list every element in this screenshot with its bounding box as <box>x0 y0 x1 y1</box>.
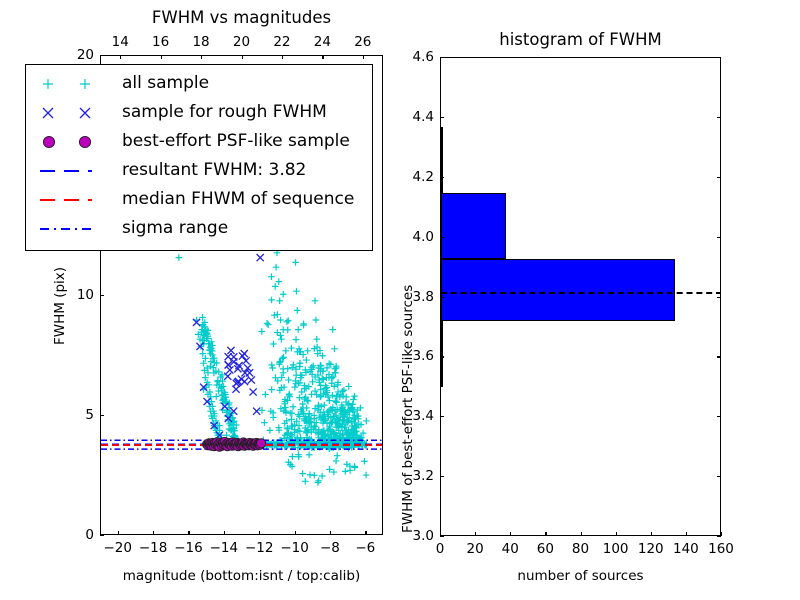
scatter-point-plus <box>274 311 281 318</box>
histogram-bar <box>441 127 443 193</box>
hist-y-tick-mark-right <box>717 297 721 298</box>
legend-item-label: sample for rough FWHM <box>122 104 327 121</box>
scatter-point-plus <box>313 336 320 343</box>
scatter-point-plus <box>303 405 310 412</box>
x-tick-label: −12 <box>245 540 274 556</box>
x-tick-mark <box>188 531 189 535</box>
hist-x-tick-label: 20 <box>467 541 484 557</box>
scatter-point-plus <box>341 387 348 394</box>
x-tick-label: −20 <box>103 540 132 556</box>
x-tick-mark-top <box>242 55 243 59</box>
y-tick-label: 0 <box>54 527 94 543</box>
x-tick-label: −16 <box>174 540 203 556</box>
x-tick-label-top: 18 <box>192 34 209 50</box>
histogram-bar <box>441 259 675 322</box>
hist-y-tick-mark <box>440 57 444 58</box>
scatter-point-plus <box>294 307 301 314</box>
legend-item-label: resultant FWHM: 3.82 <box>122 162 306 179</box>
x-tick-mark-top <box>161 55 162 59</box>
x-tick-mark <box>153 531 154 535</box>
hist-y-tick-mark <box>440 536 444 537</box>
x-tick-label-top: 22 <box>273 34 290 50</box>
left-plot-title: FWHM vs magnitudes <box>100 8 383 27</box>
hist-y-tick-mark-right <box>717 416 721 417</box>
hist-x-tick-mark <box>721 532 722 536</box>
scatter-point-cross <box>253 408 260 415</box>
histogram-bars-layer <box>441 58 720 535</box>
scatter-point-plus <box>315 478 322 485</box>
hist-y-tick-label: 3.6 <box>394 348 434 364</box>
scatter-point-plus <box>332 398 339 405</box>
hist-y-tick-mark <box>440 237 444 238</box>
legend-marker-cross-icon <box>30 98 122 127</box>
scatter-point-plus <box>272 283 279 290</box>
scatter-point-plus <box>319 473 326 480</box>
scatter-point-circle <box>43 136 54 147</box>
right-plot-title: histogram of FWHM <box>440 30 721 49</box>
legend-item-label: median FHWM of sequence <box>122 191 354 208</box>
x-tick-mark <box>330 531 331 535</box>
scatter-point-plus <box>270 341 277 348</box>
y-tick-label: 5 <box>54 407 94 423</box>
hist-y-tick-label: 4.2 <box>394 169 434 185</box>
scatter-point-plus <box>289 453 296 460</box>
y-tick-mark <box>100 535 104 536</box>
scatter-point-cross <box>43 108 53 118</box>
legend-item-label: best-effort PSF-like sample <box>122 133 350 150</box>
x-tick-label-top: 26 <box>354 34 371 50</box>
x-tick-label: −14 <box>210 540 239 556</box>
legend-item: resultant FWHM: 3.82 <box>30 156 372 185</box>
scatter-point-plus <box>363 472 370 479</box>
hist-x-tick-mark <box>475 532 476 536</box>
scatter-point-plus <box>262 391 269 398</box>
legend-item: best-effort PSF-like sample <box>30 127 372 156</box>
scatter-point-plus <box>292 384 299 391</box>
scatter-point-plus <box>261 419 268 426</box>
y-tick-label: 20 <box>54 47 94 63</box>
scatter-point-plus <box>347 467 354 474</box>
scatter-point-plus <box>303 357 310 364</box>
hist-y-tick-mark-right <box>717 476 721 477</box>
hist-y-tick-label: 4.0 <box>394 229 434 245</box>
legend-marker-plus-icon <box>30 69 122 98</box>
hist-y-tick-mark-right <box>717 117 721 118</box>
scatter-point-cross <box>257 254 264 261</box>
legend-item-label: all sample <box>122 75 209 92</box>
scatter-point-plus <box>304 348 311 355</box>
hist-x-tick-mark <box>616 532 617 536</box>
legend-marker-dashed-icon <box>30 185 122 214</box>
hist-y-tick-label: 4.4 <box>394 109 434 125</box>
scatter-point-plus <box>264 320 271 327</box>
scatter-point-cross <box>241 378 248 385</box>
histogram-bar <box>441 321 443 387</box>
hist-y-tick-label: 4.6 <box>394 49 434 65</box>
x-tick-label-top: 16 <box>152 34 169 50</box>
hist-x-tick-mark <box>510 532 511 536</box>
left-y-axis-label: FWHM (pix) <box>52 267 68 345</box>
histogram-plot-axes <box>440 57 721 536</box>
scatter-point-plus <box>295 326 302 333</box>
x-tick-mark <box>118 531 119 535</box>
scatter-point-plus <box>282 347 289 354</box>
hist-y-tick-mark <box>440 416 444 417</box>
x-tick-label: −8 <box>320 540 340 556</box>
x-tick-mark <box>365 531 366 535</box>
scatter-point-cross <box>248 376 255 383</box>
scatter-point-plus <box>43 79 53 89</box>
y-tick-label: 10 <box>54 287 94 303</box>
x-tick-mark-top <box>363 55 364 59</box>
scatter-point-plus <box>334 452 341 459</box>
hist-x-tick-label: 100 <box>603 541 629 557</box>
hist-y-tick-mark <box>440 356 444 357</box>
hist-y-tick-label: 3.4 <box>394 408 434 424</box>
legend-item: median FHWM of sequence <box>30 185 372 214</box>
scatter-point-plus <box>317 382 324 389</box>
hist-y-tick-mark <box>440 297 444 298</box>
legend-item-label: sigma range <box>122 220 228 237</box>
scatter-point-plus <box>278 374 285 381</box>
scatter-point-plus <box>273 264 280 271</box>
scatter-point-plus <box>312 388 319 395</box>
resultant-fwhm-line <box>441 292 720 294</box>
scatter-point-circle <box>79 136 90 147</box>
x-tick-label-top: 20 <box>233 34 250 50</box>
scatter-point-plus <box>271 312 278 319</box>
scatter-point-plus <box>321 402 328 409</box>
x-tick-label-top: 14 <box>112 34 129 50</box>
scatter-point-plus <box>351 464 358 471</box>
scatter-point-plus <box>285 377 292 384</box>
hist-y-tick-label: 3.2 <box>394 468 434 484</box>
x-tick-label: −6 <box>355 540 375 556</box>
hist-x-tick-label: 120 <box>638 541 664 557</box>
hist-y-tick-label: 3.8 <box>394 289 434 305</box>
hist-y-tick-mark-right <box>717 536 721 537</box>
scatter-point-plus <box>331 346 338 353</box>
legend-item: all sample <box>30 69 372 98</box>
hist-x-tick-label: 140 <box>673 541 699 557</box>
hist-y-tick-label: 3.0 <box>394 528 434 544</box>
hist-x-tick-label: 0 <box>436 541 445 557</box>
legend-marker-dashed-icon <box>30 156 122 185</box>
x-tick-mark-top <box>282 55 283 59</box>
scatter-point-plus <box>285 317 292 324</box>
hist-y-tick-mark <box>440 476 444 477</box>
scatter-point-plus <box>289 410 296 417</box>
scatter-point-plus <box>280 291 287 298</box>
x-tick-mark-top <box>201 55 202 59</box>
right-x-axis-label: number of sources <box>440 568 721 584</box>
scatter-point-plus <box>278 336 285 343</box>
y-tick-mark <box>100 55 104 56</box>
scatter-point-plus <box>280 366 287 373</box>
scatter-point-circle <box>256 439 265 448</box>
x-tick-mark <box>224 531 225 535</box>
x-tick-mark-top <box>322 55 323 59</box>
hist-x-tick-label: 80 <box>572 541 589 557</box>
legend-item: sigma range <box>30 214 372 243</box>
x-tick-label: −10 <box>280 540 309 556</box>
scatter-point-cross <box>241 350 248 357</box>
scatter-point-plus <box>303 428 310 435</box>
hist-y-tick-mark-right <box>717 237 721 238</box>
scatter-point-plus <box>315 479 322 486</box>
hist-x-tick-mark <box>581 532 582 536</box>
scatter-point-plus <box>350 396 357 403</box>
scatter-point-plus <box>265 321 272 328</box>
scatter-point-plus <box>363 418 370 425</box>
hist-x-tick-mark <box>651 532 652 536</box>
scatter-point-plus <box>258 328 265 335</box>
scatter-point-cross <box>242 357 249 364</box>
x-tick-mark-top <box>120 55 121 59</box>
hist-y-tick-mark <box>440 177 444 178</box>
hist-y-tick-mark-right <box>717 177 721 178</box>
scatter-point-plus <box>176 254 183 261</box>
scatter-point-plus <box>351 393 358 400</box>
hist-y-tick-mark-right <box>717 356 721 357</box>
scatter-point-plus <box>267 427 274 434</box>
hist-x-tick-mark <box>545 532 546 536</box>
scatter-point-plus <box>293 288 300 295</box>
histogram-bar <box>441 193 506 259</box>
legend-item: sample for rough FWHM <box>30 98 372 127</box>
legend-marker-circle-icon <box>30 127 122 156</box>
scatter-point-cross <box>224 373 231 380</box>
hist-x-tick-label: 60 <box>537 541 554 557</box>
scatter-point-plus <box>312 298 319 305</box>
scatter-point-plus <box>288 345 295 352</box>
scatter-point-plus <box>276 298 283 305</box>
scatter-point-plus <box>306 451 313 458</box>
scatter-point-plus <box>313 317 320 324</box>
x-tick-label: −18 <box>139 540 168 556</box>
scatter-point-plus <box>300 322 307 329</box>
hist-y-tick-mark <box>440 117 444 118</box>
x-tick-mark <box>295 531 296 535</box>
scatter-point-plus <box>268 386 275 393</box>
legend-marker-dashdot-icon <box>30 214 122 243</box>
hist-x-tick-label: 160 <box>708 541 734 557</box>
scatter-point-plus <box>268 362 275 369</box>
scatter-point-plus <box>277 317 284 324</box>
scatter-point-plus <box>290 403 297 410</box>
scatter-point-plus <box>284 319 291 326</box>
hist-x-tick-label: 40 <box>502 541 519 557</box>
hist-x-tick-mark <box>686 532 687 536</box>
scatter-point-plus <box>345 383 352 390</box>
hist-y-tick-mark-right <box>717 57 721 58</box>
y-tick-mark <box>100 295 104 296</box>
scatter-point-plus <box>329 326 336 333</box>
scatter-point-plus <box>80 79 90 89</box>
x-tick-label-top: 24 <box>314 34 331 50</box>
figure-canvas: FWHM vs magnitudes FWHM (pix) magnitude … <box>0 0 800 600</box>
scatter-point-cross <box>80 108 90 118</box>
scatter-point-plus <box>292 259 299 266</box>
scatter-point-plus <box>284 327 291 334</box>
scatter-point-plus <box>296 394 303 401</box>
scatter-point-plus <box>342 468 349 475</box>
scatter-point-plus <box>280 354 287 361</box>
scatter-point-plus <box>361 458 368 465</box>
scatter-point-plus <box>269 365 276 372</box>
scatter-point-cross <box>250 388 257 395</box>
scatter-point-plus <box>333 458 340 465</box>
x-tick-mark <box>259 531 260 535</box>
scatter-point-plus <box>302 478 309 485</box>
scatter-point-plus <box>293 336 300 343</box>
scatter-point-plus <box>275 278 282 285</box>
scatter-point-plus <box>326 397 333 404</box>
scatter-point-plus <box>268 273 275 280</box>
scatter-point-plus <box>299 470 306 477</box>
scatter-point-plus <box>307 471 314 478</box>
scatter-point-plus <box>268 297 275 304</box>
plot-legend: all samplesample for rough FWHMbest-effo… <box>25 64 373 251</box>
left-x-axis-label: magnitude (bottom:isnt / top:calib) <box>100 568 383 584</box>
y-tick-mark <box>100 415 104 416</box>
